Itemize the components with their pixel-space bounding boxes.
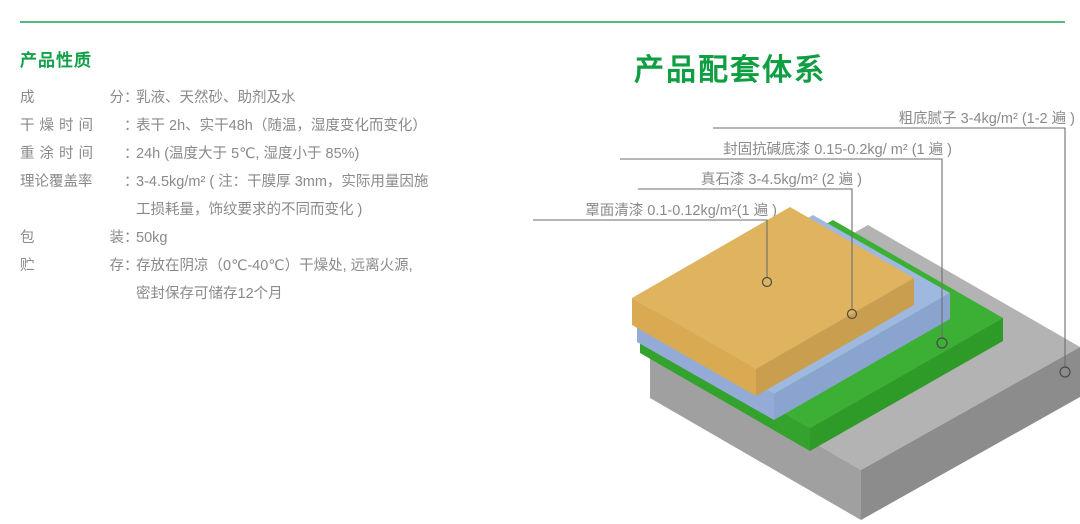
page-root: 产品性质 成 分 ： 乳液、天然砂、助剂及水 干燥时间 ： 表干 2h、实干48… (0, 0, 1080, 524)
spec-colon: ： (124, 142, 136, 167)
spec-value: 24h (温度大于 5℃, 湿度小于 85%) (136, 142, 520, 167)
spec-key: 干燥时间 (20, 114, 124, 139)
spec-row-drying-time: 干燥时间 ： 表干 2h、实干48h（随温，湿度变化而变化） (20, 114, 520, 139)
spec-key: 成 分 (20, 86, 124, 111)
spec-key-text: 重涂时间 (20, 142, 98, 167)
spec-key-char-a: 包 (20, 226, 35, 251)
spec-row-recoat-time: 重涂时间 ： 24h (温度大于 5℃, 湿度小于 85%) (20, 142, 520, 167)
spec-value-continued: 工损耗量，饰纹要求的不同而变化 ) (136, 198, 362, 223)
left-panel-title: 产品性质 (20, 50, 520, 72)
product-properties-panel: 产品性质 成 分 ： 乳液、天然砂、助剂及水 干燥时间 ： 表干 2h、实干48… (20, 50, 520, 310)
spec-key-char-a: 成 (20, 86, 35, 111)
spec-colon: ： (124, 170, 136, 195)
spec-row-coverage-rate: 理论覆盖率 ： 3-4.5kg/m² ( 注：干膜厚 3mm，实际用量因施 (20, 170, 520, 195)
spec-key: 重涂时间 (20, 142, 124, 167)
spec-colon: ： (124, 114, 136, 139)
spec-key-text: 理论覆盖率 (20, 170, 93, 195)
spec-value: 50kg (136, 226, 520, 251)
spec-indent-spacer (20, 282, 136, 307)
spec-key-char-b: 分 (110, 86, 125, 111)
spec-value: 3-4.5kg/m² ( 注：干膜厚 3mm，实际用量因施 (136, 170, 520, 195)
spec-key: 贮 存 (20, 254, 124, 279)
spec-colon: ： (124, 86, 136, 111)
spec-value: 表干 2h、实干48h（随温，湿度变化而变化） (136, 114, 520, 139)
coating-system-panel: 产品配套体系 粗底腻子 3-4kg/m² (1-2 遍 ) 封固抗碱底漆 0.1… (520, 0, 1080, 524)
spec-key-char-b: 装 (110, 226, 125, 251)
spec-row-storage: 贮 存 ： 存放在阴凉（0℃-40℃）干燥处, 远离火源, (20, 254, 520, 279)
spec-key: 包 装 (20, 226, 124, 251)
spec-value: 存放在阴凉（0℃-40℃）干燥处, 远离火源, (136, 254, 520, 279)
spec-colon: ： (124, 254, 136, 279)
spec-key-text: 干燥时间 (20, 114, 98, 139)
spec-key: 理论覆盖率 (20, 170, 124, 195)
spec-key-char-a: 贮 (20, 254, 35, 279)
spec-row-storage-cont: 密封保存可储存12个月 (20, 282, 520, 307)
spec-row-coverage-rate-cont: 工损耗量，饰纹要求的不同而变化 ) (20, 198, 520, 223)
spec-value: 乳液、天然砂、助剂及水 (136, 86, 520, 111)
spec-row-composition: 成 分 ： 乳液、天然砂、助剂及水 (20, 86, 520, 111)
spec-indent-spacer (20, 198, 136, 223)
spec-value-continued: 密封保存可储存12个月 (136, 282, 283, 307)
spec-row-packaging: 包 装 ： 50kg (20, 226, 520, 251)
spec-colon: ： (124, 226, 136, 251)
spec-key-char-b: 存 (110, 254, 125, 279)
layer-stack-diagram (520, 0, 1080, 524)
